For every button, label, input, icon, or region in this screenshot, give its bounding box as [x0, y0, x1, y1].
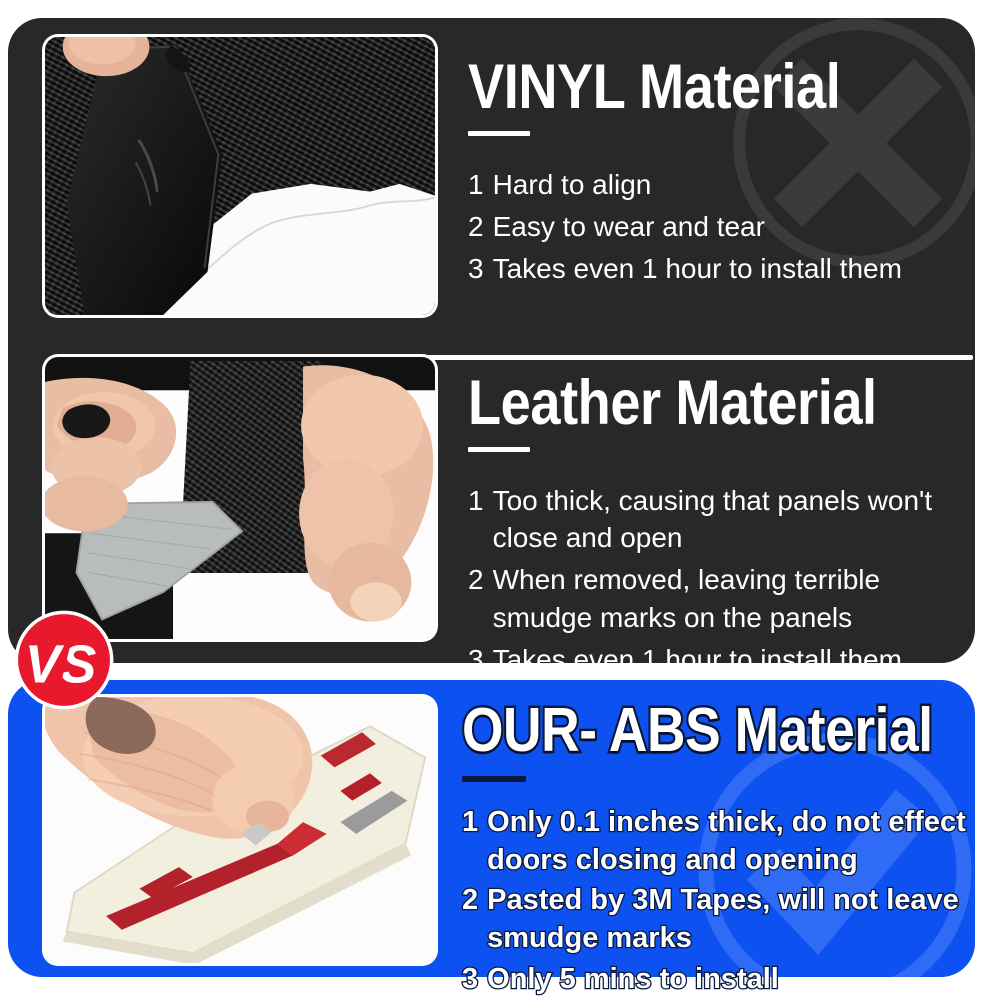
list-item: 1 Too thick, causing that panels won't c… — [468, 482, 968, 556]
item-number: 3 — [468, 250, 484, 287]
list-item: 2 Easy to wear and tear — [468, 208, 968, 245]
leather-feature-list: 1 Too thick, causing that panels won't c… — [468, 482, 968, 678]
item-number: 2 — [468, 208, 484, 245]
vinyl-text-block: VINYL Material 1 Hard to align 2 Easy to… — [468, 56, 968, 293]
list-item: 1 Hard to align — [468, 166, 968, 203]
abs-title-underline — [462, 776, 526, 782]
item-number: 1 — [468, 482, 484, 556]
item-number: 2 — [468, 561, 484, 635]
abs-material-photo — [42, 694, 438, 966]
vs-badge: VS — [12, 608, 116, 712]
item-text: Takes even 1 hour to install them — [493, 641, 968, 678]
infographic-root: VINYL Material 1 Hard to align 2 Easy to… — [0, 0, 1000, 1000]
list-item: 2 When removed, leaving terrible smudge … — [468, 561, 968, 635]
item-text: Pasted by 3M Tapes, will not leave smudg… — [487, 882, 972, 957]
abs-title: OUR- ABS Material — [462, 700, 901, 762]
leather-title-underline — [468, 447, 530, 452]
item-text: Takes even 1 hour to install them — [493, 250, 968, 287]
list-item: 3 Only 5 mins to install — [462, 961, 972, 999]
leather-text-block: Leather Material 1 Too thick, causing th… — [468, 372, 968, 683]
item-number: 3 — [462, 961, 478, 999]
vinyl-title: VINYL Material — [468, 56, 898, 119]
item-number: 1 — [468, 166, 484, 203]
item-number: 2 — [462, 882, 478, 957]
leather-title: Leather Material — [468, 372, 898, 435]
item-text: When removed, leaving terrible smudge ma… — [493, 561, 968, 635]
leather-material-photo — [42, 354, 438, 642]
list-item: 3 Takes even 1 hour to install them — [468, 641, 968, 678]
item-text: Easy to wear and tear — [493, 208, 968, 245]
vinyl-feature-list: 1 Hard to align 2 Easy to wear and tear … — [468, 166, 968, 288]
item-text: Only 5 mins to install — [487, 961, 972, 999]
list-item: 1 Only 0.1 inches thick, do not effect d… — [462, 804, 972, 879]
list-item: 3 Takes even 1 hour to install them — [468, 250, 968, 287]
abs-feature-list: 1 Only 0.1 inches thick, do not effect d… — [462, 804, 972, 998]
vinyl-title-underline — [468, 131, 530, 136]
item-number: 3 — [468, 641, 484, 678]
list-item: 2 Pasted by 3M Tapes, will not leave smu… — [462, 882, 972, 957]
vinyl-material-photo — [42, 34, 438, 318]
item-text: Hard to align — [493, 166, 968, 203]
item-text: Too thick, causing that panels won't clo… — [493, 482, 968, 556]
item-text: Only 0.1 inches thick, do not effect doo… — [487, 804, 972, 879]
abs-text-block: OUR- ABS Material 1 Only 0.1 inches thic… — [462, 700, 972, 1001]
item-number: 1 — [462, 804, 478, 879]
